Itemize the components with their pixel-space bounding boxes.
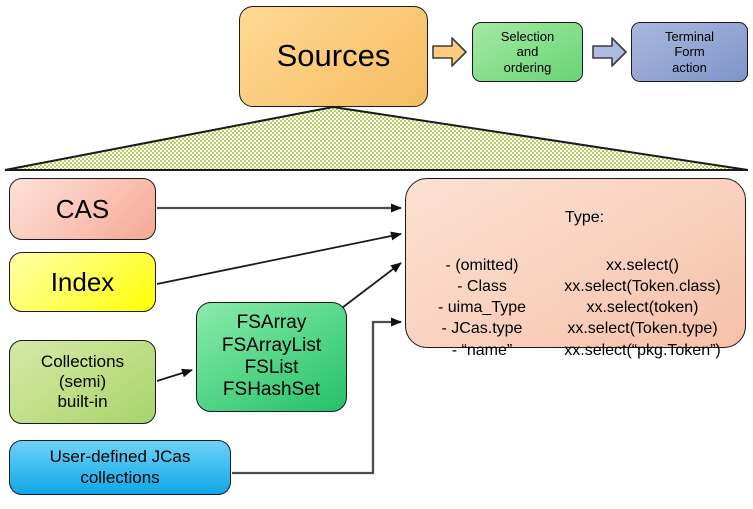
- node-fs-collection-types[interactable]: FSArray FSArrayList FSList FSHashSet: [196, 302, 347, 412]
- type-panel-row-value: xx.select(): [540, 255, 745, 276]
- type-panel-row-key: - (omitted): [424, 255, 540, 276]
- node-collections-semi-builtin[interactable]: Collections (semi) built-in: [9, 340, 156, 424]
- panel-type-specification[interactable]: Type: - (omitted)xx.select()- Classxx.se…: [405, 178, 746, 348]
- type-panel-row: - “name”xx.select(“pkg.Token”): [424, 340, 745, 361]
- type-panel-row-value: xx.select(Token.class): [540, 276, 745, 297]
- connector-collections-to-fsarray: [157, 370, 192, 381]
- type-panel-row: - (omitted)xx.select(): [424, 255, 745, 276]
- type-panel-row-key: - “name”: [424, 340, 540, 361]
- block-arrow-selection-to-terminal: [592, 36, 628, 68]
- type-panel-row-key: - Class: [424, 276, 540, 297]
- node-sources[interactable]: Sources: [239, 6, 428, 107]
- type-panel-row: - Classxx.select(Token.class): [424, 276, 745, 297]
- type-panel-row-value: xx.select(“pkg.Token”): [540, 340, 745, 361]
- type-panel-rows: - (omitted)xx.select()- Classxx.select(T…: [424, 255, 745, 361]
- triangle-fan-icon: [5, 107, 748, 170]
- type-panel-title: Type:: [424, 209, 745, 228]
- node-cas[interactable]: CAS: [9, 178, 156, 240]
- type-panel-row: - JCas.typexx.select(Token.type): [424, 318, 745, 339]
- connector-fsarray-to-type: [334, 263, 401, 314]
- node-index[interactable]: Index: [9, 252, 156, 312]
- type-panel-row-key: - JCas.type: [424, 318, 540, 339]
- block-arrow-sources-to-selection: [432, 36, 468, 68]
- type-panel-row-value: xx.select(token): [540, 297, 745, 318]
- type-panel-row-key: - uima_Type: [424, 297, 540, 318]
- type-panel-row: - uima_Typexx.select(token): [424, 297, 745, 318]
- node-selection-and-ordering[interactable]: Selection and ordering: [472, 22, 583, 82]
- type-panel-row-value: xx.select(Token.type): [540, 318, 745, 339]
- node-user-defined-jcas-collections[interactable]: User-defined JCas collections: [9, 440, 231, 495]
- node-terminal-form-action[interactable]: Terminal Form action: [631, 22, 748, 82]
- connector-index-to-type: [157, 234, 401, 284]
